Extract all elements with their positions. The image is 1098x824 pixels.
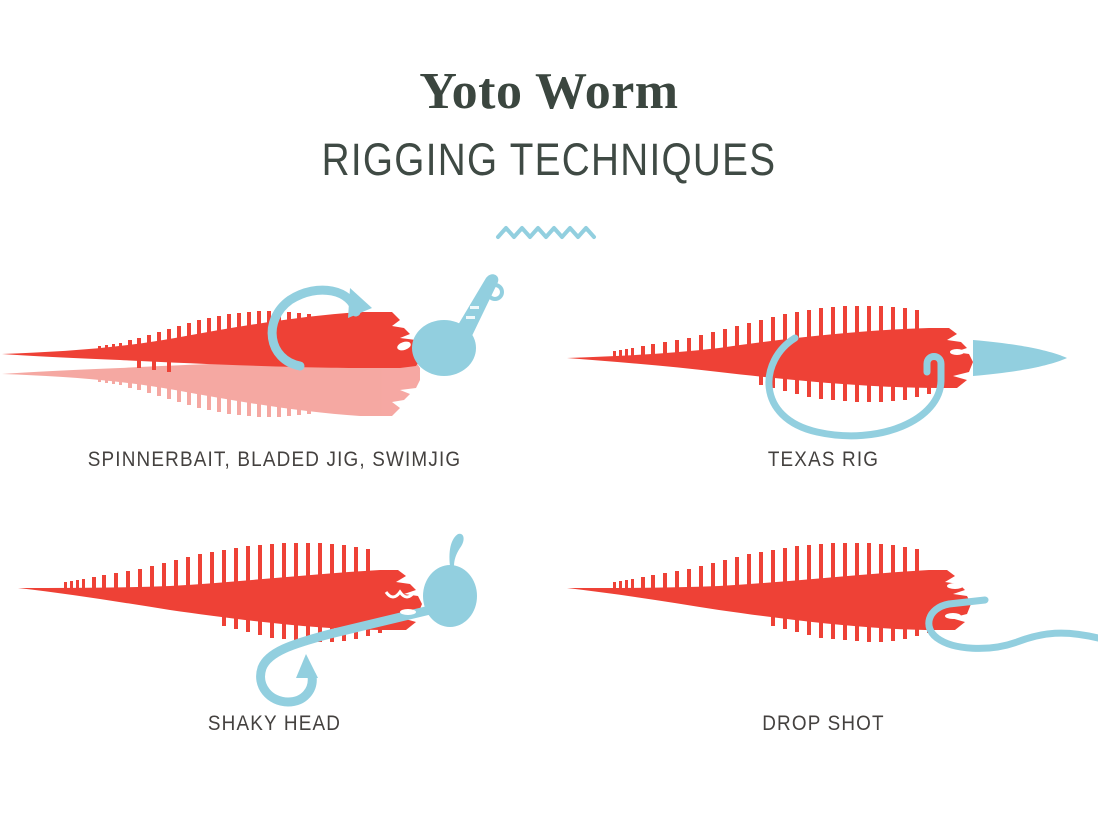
rig-grid: SPINNERBAIT, BLADED JIG, SWIMJIG xyxy=(0,268,1098,788)
texas-rig-illustration xyxy=(549,268,1098,458)
jig-eyelet-icon xyxy=(449,534,463,566)
rig-card-shaky-head[interactable]: SHAKY HEAD xyxy=(0,526,549,771)
rig-label-spinnerbait: SPINNERBAIT, BLADED JIG, SWIMJIG xyxy=(27,448,521,472)
shaky-head-illustration xyxy=(0,526,549,716)
header: Yoto Worm RIGGING TECHNIQUES xyxy=(0,62,1098,188)
motion-mirror xyxy=(2,360,420,417)
wave-divider xyxy=(0,222,1098,244)
drop-shot-illustration xyxy=(549,526,1098,716)
ball-jig-head-icon xyxy=(423,565,477,627)
rig-card-texas-rig[interactable]: TEXAS RIG xyxy=(549,268,1098,513)
rig-label-texas-rig: TEXAS RIG xyxy=(576,448,1070,472)
rig-label-drop-shot: DROP SHOT xyxy=(576,712,1070,736)
worm-eye-icon xyxy=(400,609,416,615)
worm-mouth-icon xyxy=(945,613,961,619)
worm-body xyxy=(2,311,420,372)
worm-eye-icon xyxy=(947,583,963,589)
worm-eye-icon xyxy=(950,349,964,355)
infographic-page: Yoto Worm RIGGING TECHNIQUES xyxy=(0,0,1098,824)
page-title: Yoto Worm xyxy=(0,62,1098,122)
rig-label-shaky-head: SHAKY HEAD xyxy=(27,712,521,736)
hook-barb-icon xyxy=(296,654,318,678)
worm-body xyxy=(567,543,971,642)
jig-shaft-icon xyxy=(455,274,502,340)
rig-card-drop-shot[interactable]: DROP SHOT xyxy=(549,526,1098,771)
bullet-weight-icon xyxy=(973,340,1067,376)
rig-card-spinnerbait[interactable]: SPINNERBAIT, BLADED JIG, SWIMJIG xyxy=(0,268,549,513)
wavy-line-divider-icon xyxy=(494,222,604,244)
page-subtitle: RIGGING TECHNIQUES xyxy=(77,132,1021,188)
spinnerbait-illustration xyxy=(0,268,549,458)
